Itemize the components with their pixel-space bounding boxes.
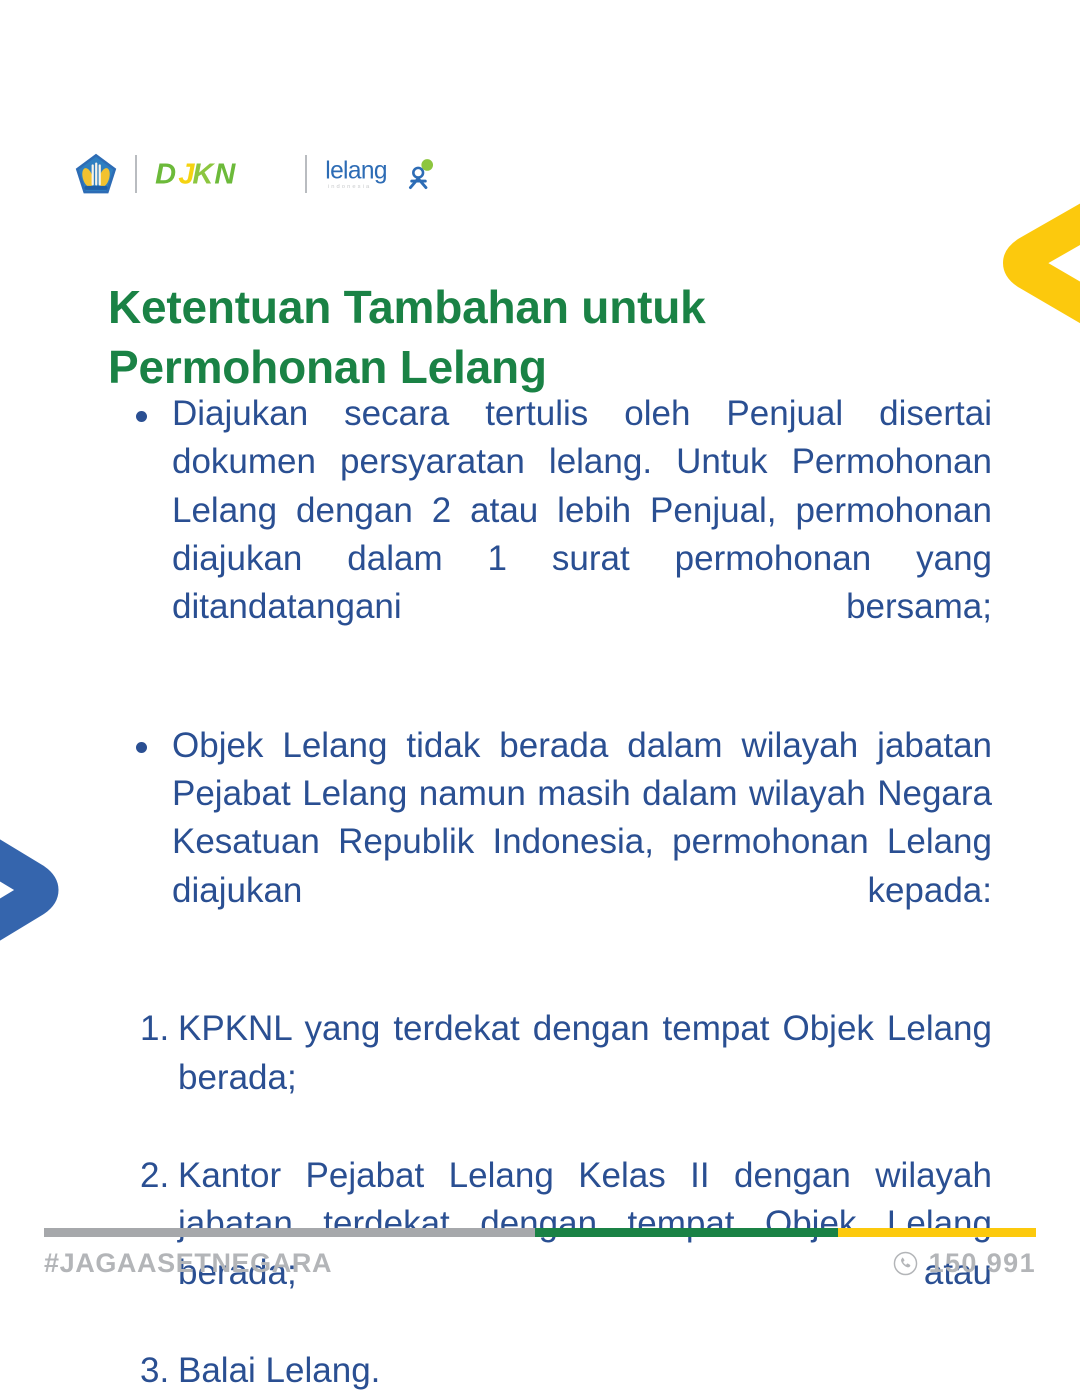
kemenkeu-logo-icon	[74, 152, 118, 196]
footer-contact: 150 991	[893, 1248, 1036, 1279]
footer-color-bar	[44, 1228, 1036, 1237]
brand-logo-bar: D J K N lelang indonesia	[74, 145, 459, 203]
logo-divider-2	[305, 155, 307, 193]
svg-text:indonesia: indonesia	[327, 184, 370, 190]
list-item: 3. Balai Lelang.	[140, 1347, 992, 1395]
chevron-right-decoration-icon	[0, 825, 68, 955]
list-item: 1. KPKNL yang terdekat dengan tempat Obj…	[140, 1005, 992, 1150]
footer-phone-number: 150 991	[929, 1248, 1036, 1279]
svg-text:D: D	[155, 158, 176, 190]
page-title-line-1: Ketentuan Tambahan untuk	[108, 278, 808, 338]
numbered-list: 1. KPKNL yang terdekat dengan tempat Obj…	[140, 1005, 992, 1395]
list-item-number: 1.	[140, 1005, 178, 1053]
svg-text:K: K	[192, 158, 215, 190]
list-item-number: 2.	[140, 1152, 178, 1200]
bullet-dot-icon	[134, 390, 172, 438]
phone-circle-icon	[893, 1251, 918, 1276]
content-body: Diajukan secara tertulis oleh Penjual di…	[134, 390, 992, 1398]
bullet-dot-icon	[134, 722, 172, 770]
footer: #JAGAASETNEGARA 150 991	[44, 1248, 1036, 1279]
footer-bar-segment-green	[535, 1228, 838, 1237]
footer-hashtag: #JAGAASETNEGARA	[44, 1248, 332, 1279]
svg-text:N: N	[214, 158, 236, 190]
lelang-indonesia-logo-icon: lelang indonesia	[324, 154, 459, 194]
page-title-line-2: Permohonan Lelang	[108, 338, 808, 398]
djkn-wordmark-icon: D J K N	[154, 156, 288, 192]
list-item: Diajukan secara tertulis oleh Penjual di…	[134, 390, 992, 680]
logo-divider-1	[135, 155, 137, 193]
bullet-text: Objek Lelang tidak berada dalam wilayah …	[172, 722, 992, 963]
footer-bar-segment-yellow	[838, 1228, 1036, 1237]
svg-text:lelang: lelang	[325, 158, 387, 185]
chevron-left-decoration-icon	[990, 196, 1080, 331]
list-item: Objek Lelang tidak berada dalam wilayah …	[134, 722, 992, 963]
page-title: Ketentuan Tambahan untuk Permohonan Lela…	[108, 278, 808, 398]
bullet-text: Diajukan secara tertulis oleh Penjual di…	[172, 390, 992, 680]
list-item-number: 3.	[140, 1347, 178, 1395]
list-item-text: KPKNL yang terdekat dengan tempat Objek …	[178, 1005, 992, 1150]
list-item-text: Balai Lelang.	[178, 1347, 992, 1395]
footer-bar-segment-grey	[44, 1228, 535, 1237]
